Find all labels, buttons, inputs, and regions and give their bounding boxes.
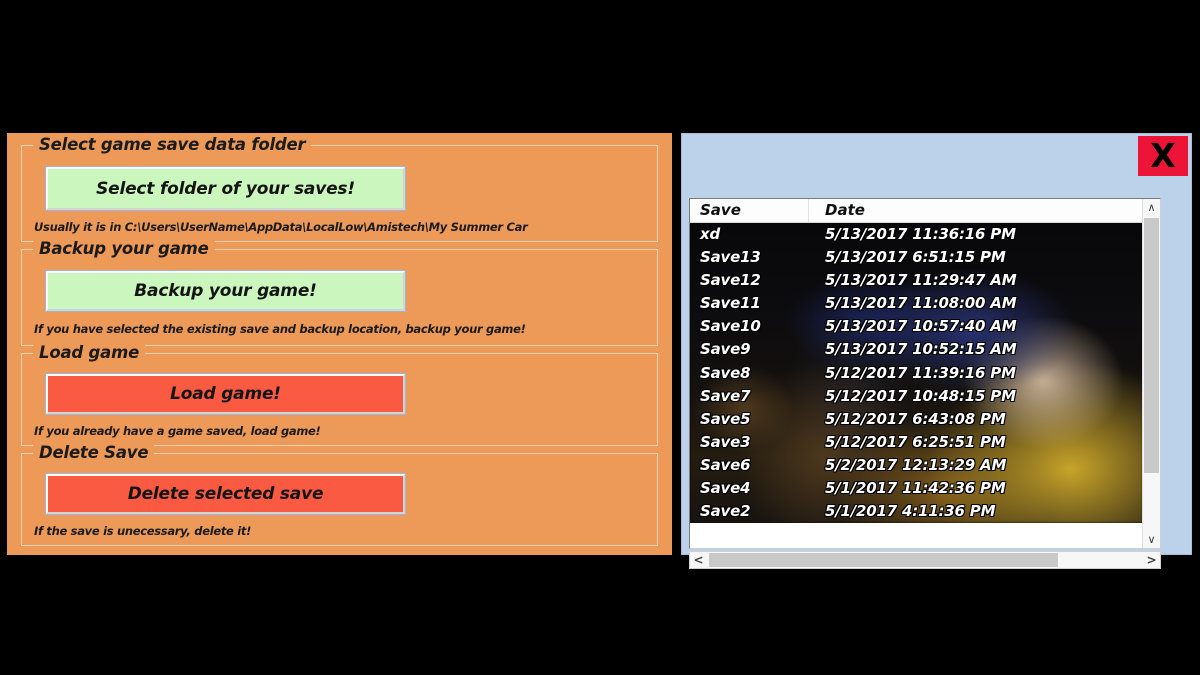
save-row[interactable]: Save115/13/2017 11:08:00 AM xyxy=(690,292,1143,315)
save-row[interactable]: Save25/1/2017 4:11:36 PM xyxy=(690,500,1143,523)
save-name-cell: Save6 xyxy=(700,454,750,477)
save-name-cell: Save2 xyxy=(700,500,750,523)
save-name-cell: xd xyxy=(700,223,720,246)
group-title-delete-save: Delete Save xyxy=(33,443,154,462)
save-row[interactable]: Save85/12/2017 11:39:16 PM xyxy=(690,362,1143,385)
save-row[interactable]: xd5/13/2017 11:36:16 PM xyxy=(690,223,1143,246)
hint-select-save-folder: Usually it is in C:\Users\UserName\AppDa… xyxy=(34,220,527,234)
vertical-scrollbar[interactable]: ∧ ∨ xyxy=(1142,199,1160,548)
vertical-scrollbar-thumb[interactable] xyxy=(1144,218,1159,473)
save-date-cell: 5/13/2017 10:52:15 AM xyxy=(825,338,1016,361)
save-date-cell: 5/13/2017 11:36:16 PM xyxy=(825,223,1016,246)
delete-selected-save-button[interactable]: Delete selected save xyxy=(46,474,405,514)
scroll-up-icon[interactable]: ∧ xyxy=(1143,199,1160,216)
listview-rows: xd5/13/2017 11:36:16 PMSave135/13/2017 6… xyxy=(690,223,1143,523)
listview-header: Save Date xyxy=(690,199,1143,223)
select-folder-button[interactable]: Select folder of your saves! xyxy=(46,167,405,210)
scroll-down-icon[interactable]: ∨ xyxy=(1143,531,1160,548)
save-date-cell: 5/13/2017 6:51:15 PM xyxy=(825,246,1006,269)
save-row[interactable]: Save125/13/2017 11:29:47 AM xyxy=(690,269,1143,292)
save-row[interactable]: Save75/12/2017 10:48:15 PM xyxy=(690,385,1143,408)
group-select-save-folder: Select game save data folder Select fold… xyxy=(21,145,658,242)
close-icon[interactable]: X xyxy=(1138,136,1188,176)
save-name-cell: Save9 xyxy=(700,338,750,361)
backup-game-button[interactable]: Backup your game! xyxy=(46,271,405,311)
column-header-save[interactable]: Save xyxy=(690,199,809,222)
save-row[interactable]: Save45/1/2017 11:42:36 PM xyxy=(690,477,1143,500)
save-date-cell: 5/1/2017 4:11:36 PM xyxy=(825,500,995,523)
group-title-load-game: Load game xyxy=(33,343,145,362)
save-row[interactable]: Save105/13/2017 10:57:40 AM xyxy=(690,315,1143,338)
save-name-cell: Save4 xyxy=(700,477,750,500)
save-date-cell: 5/13/2017 11:29:47 AM xyxy=(825,269,1016,292)
hint-delete-save: If the save is unecessary, delete it! xyxy=(34,524,251,538)
save-name-cell: Save8 xyxy=(700,362,750,385)
hint-backup-game: If you have selected the existing save a… xyxy=(34,322,526,336)
scroll-right-icon[interactable]: > xyxy=(1143,552,1160,568)
save-name-cell: Save12 xyxy=(700,269,761,292)
save-name-cell: Save3 xyxy=(700,431,750,454)
save-date-cell: 5/13/2017 11:08:00 AM xyxy=(825,292,1016,315)
load-game-button[interactable]: Load game! xyxy=(46,374,405,414)
save-row[interactable]: Save35/12/2017 6:25:51 PM xyxy=(690,431,1143,454)
group-backup-game: Backup your game Backup your game! If yo… xyxy=(21,249,658,346)
save-row[interactable]: Save55/12/2017 6:43:08 PM xyxy=(690,408,1143,431)
group-delete-save: Delete Save Delete selected save If the … xyxy=(21,453,658,546)
group-load-game: Load game Load game! If you already have… xyxy=(21,353,658,446)
group-title-select-save-folder: Select game save data folder xyxy=(33,135,311,154)
save-name-cell: Save10 xyxy=(700,315,761,338)
save-date-cell: 5/12/2017 11:39:16 PM xyxy=(825,362,1016,385)
save-row[interactable]: Save135/13/2017 6:51:15 PM xyxy=(690,246,1143,269)
saves-listview[interactable]: Save Date xd5/13/2017 11:36:16 PMSave135… xyxy=(689,198,1161,549)
save-date-cell: 5/1/2017 11:42:36 PM xyxy=(825,477,1006,500)
group-title-backup-game: Backup your game xyxy=(33,239,215,258)
scroll-left-icon[interactable]: < xyxy=(690,552,707,568)
settings-panel: Select game save data folder Select fold… xyxy=(7,133,672,555)
listview-body: xd5/13/2017 11:36:16 PMSave135/13/2017 6… xyxy=(690,223,1143,523)
save-name-cell: Save11 xyxy=(700,292,761,315)
save-row[interactable]: Save95/13/2017 10:52:15 AM xyxy=(690,338,1143,361)
save-name-cell: Save5 xyxy=(700,408,750,431)
horizontal-scrollbar[interactable]: < > xyxy=(689,551,1161,569)
save-name-cell: Save13 xyxy=(700,246,761,269)
save-date-cell: 5/12/2017 6:25:51 PM xyxy=(825,431,1006,454)
save-row[interactable]: Save65/2/2017 12:13:29 AM xyxy=(690,454,1143,477)
horizontal-scrollbar-thumb[interactable] xyxy=(709,553,1058,567)
save-date-cell: 5/12/2017 10:48:15 PM xyxy=(825,385,1016,408)
column-header-date[interactable]: Date xyxy=(809,199,1143,222)
save-name-cell: Save7 xyxy=(700,385,750,408)
save-date-cell: 5/12/2017 6:43:08 PM xyxy=(825,408,1006,431)
saves-panel: X Save Date xd5/13/2017 11:36:16 PMSave1… xyxy=(681,133,1192,555)
save-date-cell: 5/13/2017 10:57:40 AM xyxy=(825,315,1016,338)
save-date-cell: 5/2/2017 12:13:29 AM xyxy=(825,454,1006,477)
hint-load-game: If you already have a game saved, load g… xyxy=(34,424,321,438)
